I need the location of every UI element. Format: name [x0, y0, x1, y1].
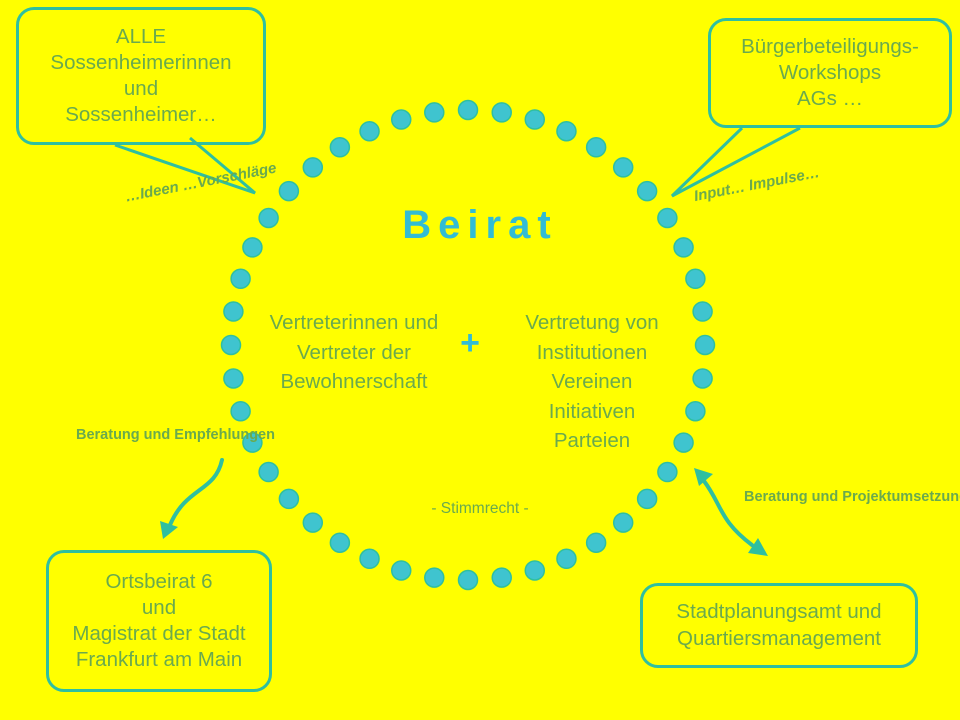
ortsbeirat-line-1: Ortsbeirat 6	[105, 569, 212, 595]
bubble-citizens-line-1: ALLE	[116, 24, 166, 50]
institutions-line-5: Initiativen	[549, 400, 636, 423]
ortsbeirat-line-4: Frankfurt am Main	[76, 647, 242, 673]
institutions-line-2: von	[626, 311, 659, 334]
ring-dot	[330, 533, 349, 552]
ring-dot	[330, 138, 349, 157]
stadtplanung-line-1: Stadtplanungsamt und	[676, 599, 881, 625]
institutions-line-6: Parteien	[554, 429, 630, 452]
ring-dot	[425, 568, 444, 587]
bubble-workshops-line-3: AGs …	[797, 86, 863, 112]
ring-dot	[222, 336, 241, 355]
center-title-beirat: Beirat	[0, 203, 960, 248]
ring-dot	[492, 103, 511, 122]
ring-dot	[392, 561, 411, 580]
ring-dot	[693, 302, 712, 321]
ring-dot	[696, 336, 715, 355]
bubble-citizens-line-3: und	[124, 76, 158, 102]
ring-dot	[638, 182, 657, 201]
beratung-empfehlungen-line-2: Empfehlungen	[174, 427, 275, 443]
ring-dot	[360, 122, 379, 141]
ring-dot	[303, 158, 322, 177]
ring-dot	[459, 101, 478, 120]
arrow-label-beratung-empfehlungen: Beratung und Empfehlungen	[76, 425, 206, 446]
ring-dot	[557, 122, 576, 141]
ring-dot	[587, 138, 606, 157]
ring-dot	[658, 463, 677, 482]
ortsbeirat-line-2: und	[142, 595, 176, 621]
diagram-canvas: ALLE Sossenheimerinnen und Sossenheimer……	[0, 0, 960, 720]
institutions-line-3: Institutionen	[537, 341, 648, 364]
ring-dot	[686, 402, 705, 421]
ring-dot	[231, 269, 250, 288]
bubble-workshops-line-1: Bürgerbeteiligungs-	[741, 34, 919, 60]
ring-dot	[459, 571, 478, 590]
stadtplanung-line-2: Quartiersmanagement	[677, 626, 881, 652]
box-ortsbeirat: Ortsbeirat 6 und Magistrat der Stadt Fra…	[46, 550, 272, 692]
ring-dot	[557, 549, 576, 568]
ring-dot	[525, 110, 544, 129]
ring-dot	[224, 369, 243, 388]
bubble-citizens-line-2: Sossenheimerinnen	[50, 50, 231, 76]
beratung-projekt-line-2: Projektumsetzung	[842, 489, 960, 505]
ring-dot	[279, 182, 298, 201]
ring-dot	[231, 402, 250, 421]
center-column-residents: Vertreterinnen und Vertreter der Bewohne…	[268, 308, 440, 397]
arrow-head-down-right	[748, 538, 768, 556]
ring-dot	[224, 302, 243, 321]
institutions-line-4: Vereinen	[552, 370, 633, 393]
bubble-citizens-line-4: Sossenheimer…	[65, 102, 217, 128]
center-column-institutions: Vertretung von Institutionen Vereinen In…	[508, 308, 676, 456]
ortsbeirat-line-3: Magistrat der Stadt	[72, 621, 245, 647]
ring-dot	[259, 463, 278, 482]
bubble-workshops-line-2: Workshops	[779, 60, 881, 86]
ring-dot	[360, 549, 379, 568]
ring-dot	[525, 561, 544, 580]
beratung-empfehlungen-line-1: Beratung und	[76, 427, 170, 443]
arrow-label-beratung-projektumsetzung: Beratung und Projektumsetzung	[744, 487, 914, 508]
box-stadtplanungsamt: Stadtplanungsamt und Quartiersmanagement	[640, 583, 918, 668]
ring-dot	[693, 369, 712, 388]
residents-line-4: Bewohnerschaft	[280, 370, 427, 393]
institutions-line-1: Vertretung	[525, 311, 620, 334]
residents-line-1: Vertreterinnen	[270, 311, 399, 334]
ring-dot	[614, 158, 633, 177]
ring-dot	[392, 110, 411, 129]
beratung-projekt-line-1: Beratung und	[744, 489, 838, 505]
plus-sign: +	[440, 324, 500, 363]
ring-dot	[674, 433, 693, 452]
speech-bubble-workshops: Bürgerbeteiligungs- Workshops AGs …	[708, 18, 952, 128]
residents-line-3: der	[381, 341, 411, 364]
ring-dot	[686, 269, 705, 288]
ring-dot	[587, 533, 606, 552]
ring-dot	[492, 568, 511, 587]
speech-bubble-citizens: ALLE Sossenheimerinnen und Sossenheimer…	[16, 7, 266, 145]
ring-dot	[425, 103, 444, 122]
